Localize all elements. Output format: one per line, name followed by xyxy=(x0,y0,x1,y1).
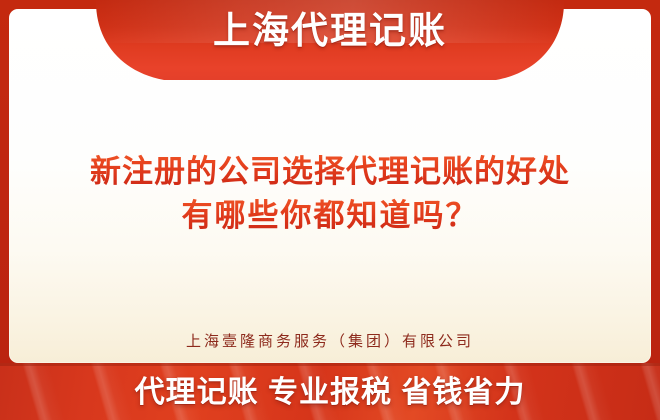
ribbon-title: 上海代理记账 xyxy=(0,8,660,54)
headline-line-1: 新注册的公司选择代理记账的好处 xyxy=(9,150,651,194)
footer-slogan-bar: 代理记账 专业报税 省钱省力 xyxy=(0,363,660,420)
company-name: 上海壹隆商务服务（集团）有限公司 xyxy=(9,331,651,353)
footer-top-edge-divider xyxy=(0,363,660,366)
footer-slogan-text: 代理记账 专业报税 省钱省力 xyxy=(0,369,660,417)
headline: 新注册的公司选择代理记账的好处 有哪些你都知道吗？ xyxy=(9,150,651,238)
header-ribbon: 上海代理记账 xyxy=(0,0,660,84)
promo-poster: 上海代理记账 新注册的公司选择代理记账的好处 有哪些你都知道吗？ 上海壹隆商务服… xyxy=(0,0,660,420)
headline-line-2: 有哪些你都知道吗？ xyxy=(9,194,651,238)
